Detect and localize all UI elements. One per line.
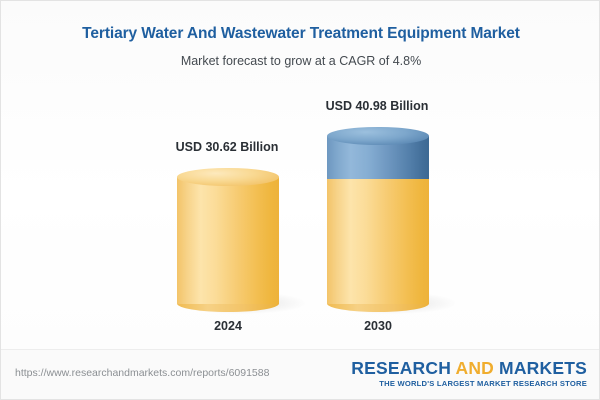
- logo-tagline: THE WORLD'S LARGEST MARKET RESEARCH STOR…: [351, 379, 587, 388]
- bar-top-ellipse-2024: [177, 168, 279, 186]
- bar-category-label-2030: 2030: [268, 319, 488, 333]
- chart-card: Tertiary Water And Wastewater Treatment …: [0, 0, 600, 400]
- report-url[interactable]: https://www.researchandmarkets.com/repor…: [15, 367, 269, 379]
- logo-word-research: RESEARCH: [351, 358, 455, 378]
- logo-word-and: AND: [455, 358, 494, 378]
- bar-body-2024: [177, 177, 279, 304]
- logo-word-markets: MARKETS: [494, 358, 587, 378]
- logo-wordmark: RESEARCH AND MARKETS: [351, 359, 587, 377]
- bar-value-label-2024: USD 30.62 Billion: [117, 140, 337, 154]
- chart-footer: https://www.researchandmarkets.com/repor…: [1, 349, 600, 400]
- research-and-markets-logo[interactable]: RESEARCH AND MARKETS THE WORLD'S LARGEST…: [351, 359, 587, 388]
- bar-series: USD 30.62 Billion 2024 USD 40.98 Billion…: [1, 1, 600, 349]
- bar-top-ellipse-2030: [327, 127, 429, 145]
- bar-body-base-2030: [327, 177, 429, 304]
- bar-value-label-2030: USD 40.98 Billion: [267, 99, 487, 113]
- chart-plot-area: Tertiary Water And Wastewater Treatment …: [1, 1, 600, 349]
